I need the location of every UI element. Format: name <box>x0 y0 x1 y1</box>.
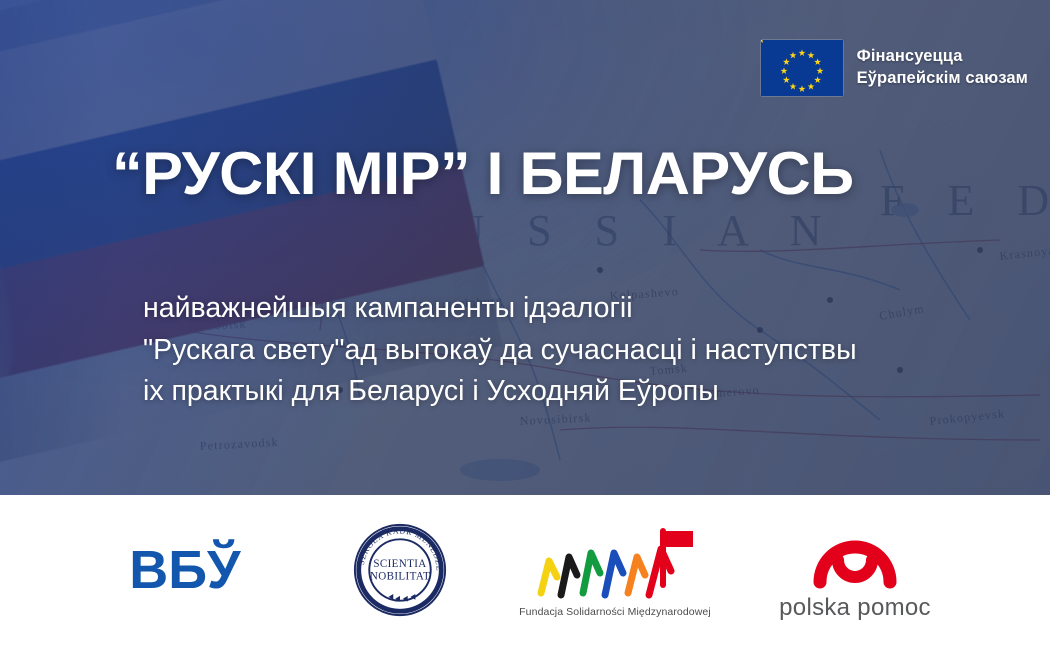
polska-pomoc-logo: polska pomoc <box>730 495 980 645</box>
fundacja-caption: Fundacja Solidarności Międzynarodowej <box>519 606 711 618</box>
svg-text:SCIENTIA: SCIENTIA <box>373 558 426 570</box>
poster-title: “РУСКІ МІР” І БЕЛАРУСЬ <box>112 144 854 204</box>
hero-banner: R U S S I A N F E D Kolpashevo Tomsk Kem… <box>0 0 1050 495</box>
eu-funding-text: Фінансуецца Еўрапейскім саюзам <box>857 46 1028 90</box>
poster: R U S S I A N F E D Kolpashevo Tomsk Kem… <box>0 0 1050 645</box>
svg-text:NOBILITAT: NOBILITAT <box>370 571 430 583</box>
eu-funding-line1: Фінансуецца <box>857 46 1028 68</box>
fundacja-arrows-icon <box>531 523 699 601</box>
wskm-seal-icon: WYŻSZA SZKOŁA KADR MENEDŻERSKICH SCIENTI… <box>352 522 448 618</box>
polska-pomoc-icon <box>812 518 898 590</box>
subtitle-line-3: іх практыкі для Беларусі і Усходняй Еўро… <box>143 371 857 413</box>
fundacja-solidarnosci-logo: Fundacja Solidarności Międzynarodowej <box>500 495 730 645</box>
subtitle-line-2: "Рускага свету"ад вытокаў да сучаснасці … <box>143 330 857 372</box>
eu-funding-badge: Фінансуецца Еўрапейскім саюзам <box>761 40 1028 96</box>
poster-subtitle: найважнейшыя кампаненты ідэалогіі "Руска… <box>143 288 857 413</box>
sponsor-logo-bar: ВБЎ WYŻSZA SZKOŁA KADR MENEDŻERSKICH <box>0 495 1050 645</box>
polska-pomoc-caption: polska pomoc <box>779 594 931 622</box>
eu-funding-line2: Еўрапейскім саюзам <box>857 68 1028 90</box>
vbu-logo-text: ВБЎ <box>129 543 240 597</box>
vbu-logo: ВБЎ <box>70 495 300 645</box>
wskm-seal-logo: WYŻSZA SZKOŁA KADR MENEDŻERSKICH SCIENTI… <box>300 495 500 645</box>
subtitle-line-1: найважнейшыя кампаненты ідэалогіі <box>143 288 857 330</box>
eu-flag-icon <box>761 40 843 96</box>
